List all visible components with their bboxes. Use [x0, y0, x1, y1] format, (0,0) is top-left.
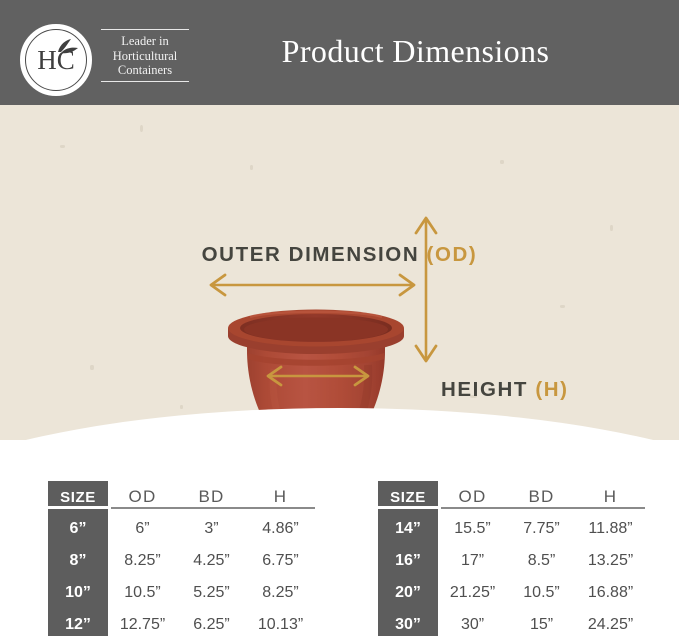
- cell-bd: 5.25”: [177, 577, 246, 609]
- table-row: 12” 12.75” 6.25” 10.13”: [48, 609, 315, 636]
- cell-bd: 3”: [177, 513, 246, 545]
- cell-od: 21.25”: [438, 577, 507, 609]
- table-row: 30” 30” 15” 24.25”: [378, 609, 645, 636]
- table-left-grid: SIZE OD BD H 6” 6” 3” 4.86” 8”: [48, 481, 315, 636]
- col-header-od: OD: [438, 481, 507, 513]
- col-header-od: OD: [108, 481, 177, 513]
- table-row: 10” 10.5” 5.25” 8.25”: [48, 577, 315, 609]
- table-row: 6” 6” 3” 4.86”: [48, 513, 315, 545]
- cell-h: 6.75”: [246, 545, 315, 577]
- header-bar: HC Leader in Horticultural Containers Pr…: [0, 0, 679, 105]
- base-dimension-arrow: [262, 363, 374, 389]
- cell-h: 11.88”: [576, 513, 645, 545]
- cell-h: 24.25”: [576, 609, 645, 636]
- dimension-table-small-sizes: SIZE OD BD H 6” 6” 3” 4.86” 8”: [48, 481, 315, 636]
- cell-h: 4.86”: [246, 513, 315, 545]
- product-dimensions-infographic: HC Leader in Horticultural Containers Pr…: [0, 0, 679, 636]
- outer-dimension-arrow: [205, 270, 420, 300]
- col-header-bd: BD: [177, 481, 246, 513]
- cell-od: 15.5”: [438, 513, 507, 545]
- cell-bd: 15”: [507, 609, 576, 636]
- cell-od: 12.75”: [108, 609, 177, 636]
- col-header-size: SIZE: [378, 481, 438, 513]
- table-right-grid: SIZE OD BD H 14” 15.5” 7.75” 11.88” 16”: [378, 481, 645, 636]
- diagram-panel: OUTER DIMENSION (OD) HEIGHT (H): [0, 105, 679, 440]
- cell-size: 8”: [48, 545, 108, 577]
- tagline-rule-bottom: [101, 81, 189, 82]
- cell-size: 30”: [378, 609, 438, 636]
- outer-dimension-label: OUTER DIMENSION (OD): [0, 243, 679, 267]
- col-header-bd: BD: [507, 481, 576, 513]
- cell-od: 17”: [438, 545, 507, 577]
- table-row: 16” 17” 8.5” 13.25”: [378, 545, 645, 577]
- table-header-row: SIZE OD BD H: [48, 481, 315, 513]
- cell-size: 12”: [48, 609, 108, 636]
- cell-size: 20”: [378, 577, 438, 609]
- cell-size: 14”: [378, 513, 438, 545]
- dimension-tables: SIZE OD BD H 6” 6” 3” 4.86” 8”: [0, 481, 679, 636]
- cell-size: 10”: [48, 577, 108, 609]
- cell-od: 6”: [108, 513, 177, 545]
- cell-h: 10.13”: [246, 609, 315, 636]
- height-text: HEIGHT: [441, 378, 535, 401]
- cell-bd: 10.5”: [507, 577, 576, 609]
- cell-bd: 4.25”: [177, 545, 246, 577]
- panel-bottom-curve: [0, 408, 679, 440]
- cell-bd: 7.75”: [507, 513, 576, 545]
- cell-bd: 8.5”: [507, 545, 576, 577]
- cell-size: 6”: [48, 513, 108, 545]
- height-arrow: [411, 212, 441, 367]
- cell-od: 30”: [438, 609, 507, 636]
- table-row: 20” 21.25” 10.5” 16.88”: [378, 577, 645, 609]
- table-header-row: SIZE OD BD H: [378, 481, 645, 513]
- cell-size: 16”: [378, 545, 438, 577]
- dimension-table-large-sizes: SIZE OD BD H 14” 15.5” 7.75” 11.88” 16”: [378, 481, 645, 636]
- table-row: 14” 15.5” 7.75” 11.88”: [378, 513, 645, 545]
- height-abbr: (H): [535, 378, 568, 401]
- outer-dimension-text: OUTER DIMENSION: [202, 243, 427, 266]
- page-title: Product Dimensions: [0, 33, 679, 70]
- table-row: 8” 8.25” 4.25” 6.75”: [48, 545, 315, 577]
- cell-od: 10.5”: [108, 577, 177, 609]
- cell-bd: 6.25”: [177, 609, 246, 636]
- cell-od: 8.25”: [108, 545, 177, 577]
- cell-h: 13.25”: [576, 545, 645, 577]
- col-header-h: H: [246, 481, 315, 513]
- col-header-h: H: [576, 481, 645, 513]
- cell-h: 16.88”: [576, 577, 645, 609]
- col-header-size: SIZE: [48, 481, 108, 513]
- cell-h: 8.25”: [246, 577, 315, 609]
- height-label: HEIGHT (H): [441, 378, 569, 402]
